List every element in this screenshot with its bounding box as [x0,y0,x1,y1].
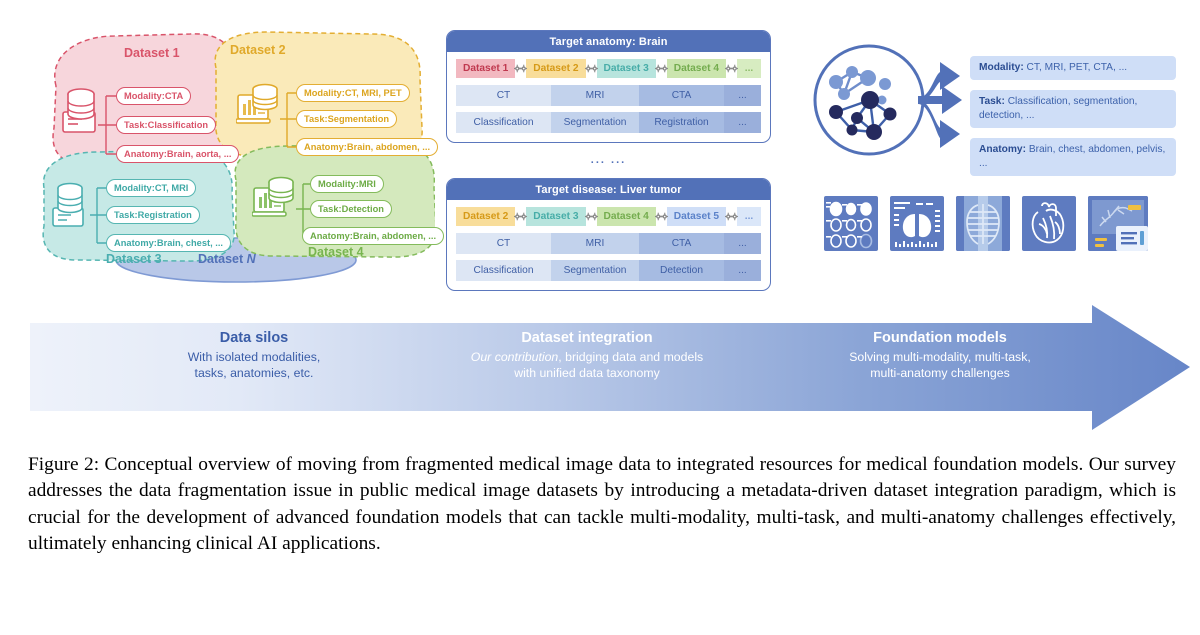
meta-task-box[interactable]: Task: Classification, segmentation, dete… [970,90,1176,128]
panel-1-modality-cta[interactable]: CTA [639,85,724,106]
dataset-3-task-key: Task: [114,210,138,220]
dataset-2-modality-value: CT, MRI, PET [345,88,402,98]
panel-1-dataset-chip-4[interactable]: Dataset 4 [667,59,726,78]
stage-dataset-integration-emphasis: Our contribution [471,350,559,364]
dataset-1-modality-value: CTA [165,91,183,101]
panel-1-task-classification[interactable]: Classification [456,112,551,133]
panel-2-task-classification[interactable]: Classification [456,260,551,281]
panel-target-anatomy-brain: Target anatomy: Brain Dataset 1 Dataset … [446,30,771,143]
panel-target-disease-liver-tumor: Target disease: Liver tumor Dataset 2 Da… [446,178,771,291]
panel-2-task-more[interactable]: ... [724,260,761,281]
panel-2-task-strip: Classification Segmentation Detection ..… [456,260,761,281]
dataset-1-anatomy-key: Anatomy: [124,149,167,159]
figure-graphic: Dataset 1 Modality: CTA Task: Classifica… [0,0,1200,440]
panel-1-task-segmentation[interactable]: Segmentation [551,112,639,133]
stage-foundation-models: Foundation models Solving multi-modality… [780,330,1100,381]
dataset-4-task-pill: Task: Detection [310,200,392,218]
meta-modality-key: Modality: [979,62,1024,73]
panel-2-modality-mri[interactable]: MRI [551,233,639,254]
dataset-4-anatomy-value: Brain, abdomen, ... [353,231,436,241]
gear-link-icon [725,210,738,223]
panel-1-dataset-chip-2[interactable]: Dataset 2 [526,59,585,78]
meta-task-key: Task: [979,96,1005,107]
dataset-3-database-icon [52,180,92,230]
gear-link-icon [655,210,668,223]
panel-2-task-detection[interactable]: Detection [639,260,724,281]
panel-1-dataset-chip-3[interactable]: Dataset 3 [597,59,656,78]
dataset-4-modality-key: Modality: [318,179,359,189]
dataset-1-task-key: Task: [124,120,148,130]
stage-foundation-models-subtitle: Solving multi-modality, multi-task, mult… [780,349,1100,381]
dataset-4-modality-pill: Modality: MRI [310,175,384,193]
dataset-3-anatomy-key: Anatomy: [114,238,157,248]
gear-link-icon [514,62,527,75]
panel-2-modality-more[interactable]: ... [724,233,761,254]
stage-data-silos-title: Data silos [104,330,404,346]
gear-link-icon [585,62,598,75]
dataset-n-prefix: Dataset [198,252,247,266]
dataset-3-title: Dataset 3 [106,252,162,266]
panel-1-task-strip: Classification Segmentation Registration… [456,112,761,133]
panel-1-header: Target anatomy: Brain [447,31,770,52]
panel-2-dataset-chip-1[interactable]: Dataset 2 [456,207,515,226]
dataset-1-modality-pill: Modality: CTA [116,87,191,105]
dataset-3-modality-key: Modality: [114,183,155,193]
dataset-n-title: Dataset N [198,252,256,266]
dataset-1-modality-key: Modality: [124,91,165,101]
dataset-1-connector-lines [98,92,118,158]
dataset-1-anatomy-pill: Anatomy: Brain, aorta, ... [116,145,239,163]
panel-2-dataset-chip-2[interactable]: Dataset 3 [526,207,585,226]
meta-modality-value: CT, MRI, PET, CTA, ... [1024,62,1127,73]
dataset-1-task-value: Classification [148,120,208,130]
vessel-report-thumbnail[interactable] [1088,196,1148,251]
dataset-2-modality-pill: Modality: CT, MRI, PET [296,84,410,102]
panel-2-header: Target disease: Liver tumor [447,179,770,200]
stage-dataset-integration-subtitle: Our contribution, bridging data and mode… [412,349,762,381]
figure-caption-label: Figure 2: [28,454,99,475]
dataset-2-anatomy-value: Brain, abdomen, ... [347,142,430,152]
dataset-3-task-pill: Task: Registration [106,206,200,224]
dataset-4-task-key: Task: [318,204,342,214]
figure-caption: Figure 2: Conceptual overview of moving … [28,452,1176,558]
panel-1-dataset-row: Dataset 1 Dataset 2 Dataset 3 Dataset 4 … [456,59,761,78]
dataset-4-modality-value: MRI [359,179,376,189]
dataset-2-modality-key: Modality: [304,88,345,98]
dataset-n-index: N [247,252,256,266]
dataset-1-task-pill: Task: Classification [116,116,216,134]
dataset-4-laptop-database-icon [252,176,296,228]
dataset-3-anatomy-value: Brain, chest, ... [157,238,223,248]
chest-xray-thumbnail[interactable] [956,196,1010,251]
stage-data-silos-subtitle: With isolated modalities, tasks, anatomi… [104,349,404,381]
panel-1-task-registration[interactable]: Registration [639,112,724,133]
panel-2-dataset-chip-3[interactable]: Dataset 4 [597,207,656,226]
gear-link-icon [585,210,598,223]
meta-anatomy-key: Anatomy: [979,144,1026,155]
panel-1-dataset-chip-1[interactable]: Dataset 1 [456,59,515,78]
foundation-models-group: Modality: CT, MRI, PET, CTA, ... Task: C… [812,38,1182,298]
panel-1-modality-mri[interactable]: MRI [551,85,639,106]
dataset-2-task-pill: Task: Segmentation [296,110,397,128]
meta-modality-box[interactable]: Modality: CT, MRI, PET, CTA, ... [970,56,1176,80]
panel-2-dataset-chip-more[interactable]: ... [737,207,761,226]
stage-dataset-integration-line2: with unified data taxonomy [412,365,762,381]
progression-arrow-banner: Data silos With isolated modalities, tas… [30,305,1190,430]
panel-1-modality-more[interactable]: ... [724,85,761,106]
dataset-4-anatomy-pill: Anatomy: Brain, abdomen, ... [302,227,444,245]
dataset-4-title: Dataset 4 [308,245,364,259]
dataset-2-anatomy-pill: Anatomy: Brain, abdomen, ... [296,138,438,156]
panel-1-modality-ct[interactable]: CT [456,85,551,106]
mri-slice-grid-thumbnail[interactable] [824,196,878,251]
figure-caption-text: Conceptual overview of moving from fragm… [28,454,1176,554]
panel-2-body: Dataset 2 Dataset 3 Dataset 4 Dataset 5 … [447,200,770,290]
panel-2-task-segmentation[interactable]: Segmentation [551,260,639,281]
stage-foundation-models-title: Foundation models [780,330,1100,346]
panel-1-modality-strip: CT MRI CTA ... [456,85,761,106]
panel-1-dataset-chip-more[interactable]: ... [737,59,761,78]
dataset-1-database-icon [62,86,100,134]
dataset-3-modality-value: CT, MRI [155,183,189,193]
stage-data-silos-line1: With isolated modalities, [104,349,404,365]
stage-foundation-models-line1: Solving multi-modality, multi-task, [780,349,1100,365]
gear-link-icon [725,62,738,75]
gear-link-icon [655,62,668,75]
dataset-3-task-value: Registration [138,210,192,220]
dataset-4-anatomy-key: Anatomy: [310,231,353,241]
panel-1-body: Dataset 1 Dataset 2 Dataset 3 Dataset 4 … [447,52,770,142]
dataset-4-task-value: Detection [342,204,384,214]
stage-dataset-integration-title: Dataset integration [412,330,762,346]
panel-2-dataset-chip-4[interactable]: Dataset 5 [667,207,726,226]
dataset-2-task-value: Segmentation [328,114,389,124]
dataset-2-anatomy-key: Anatomy: [304,142,347,152]
gear-link-icon [514,210,527,223]
stage-foundation-models-line2: multi-anatomy challenges [780,365,1100,381]
branch-arrows [916,44,970,156]
panel-2-modality-cta[interactable]: CTA [639,233,724,254]
heart-anatomy-thumbnail[interactable] [1022,196,1076,251]
dataset-3-modality-pill: Modality: CT, MRI [106,179,196,197]
panel-1-task-more[interactable]: ... [724,112,761,133]
meta-anatomy-box[interactable]: Anatomy: Brain, chest, abdomen, pelvis, … [970,138,1176,176]
dataset-1-anatomy-value: Brain, aorta, ... [167,149,232,159]
panels-separator-ellipsis: ... ... [446,154,771,166]
stage-data-silos-line2: tasks, anatomies, etc. [104,365,404,381]
dataset-integration-group: Target anatomy: Brain Dataset 1 Dataset … [446,30,776,302]
stage-dataset-integration: Dataset integration Our contribution, br… [412,330,762,381]
panel-2-dataset-row: Dataset 2 Dataset 3 Dataset 4 Dataset 5 … [456,207,761,226]
dataset-1-title: Dataset 1 [124,46,180,60]
stage-dataset-integration-line1: , bridging data and models [558,350,703,364]
dataset-3-anatomy-pill: Anatomy: Brain, chest, ... [106,234,231,252]
dataset-2-laptop-database-icon [236,83,280,135]
figure-page: Dataset 1 Modality: CTA Task: Classifica… [0,0,1200,635]
panel-2-modality-strip: CT MRI CTA ... [456,233,761,254]
lung-ct-thumbnail[interactable] [890,196,944,251]
panel-2-modality-ct[interactable]: CT [456,233,551,254]
dataset-2-task-key: Task: [304,114,328,124]
stage-data-silos: Data silos With isolated modalities, tas… [104,330,404,381]
data-silos-group: Dataset 1 Modality: CTA Task: Classifica… [40,28,435,296]
dataset-2-title: Dataset 2 [230,43,286,57]
knowledge-graph-icon [812,40,930,160]
